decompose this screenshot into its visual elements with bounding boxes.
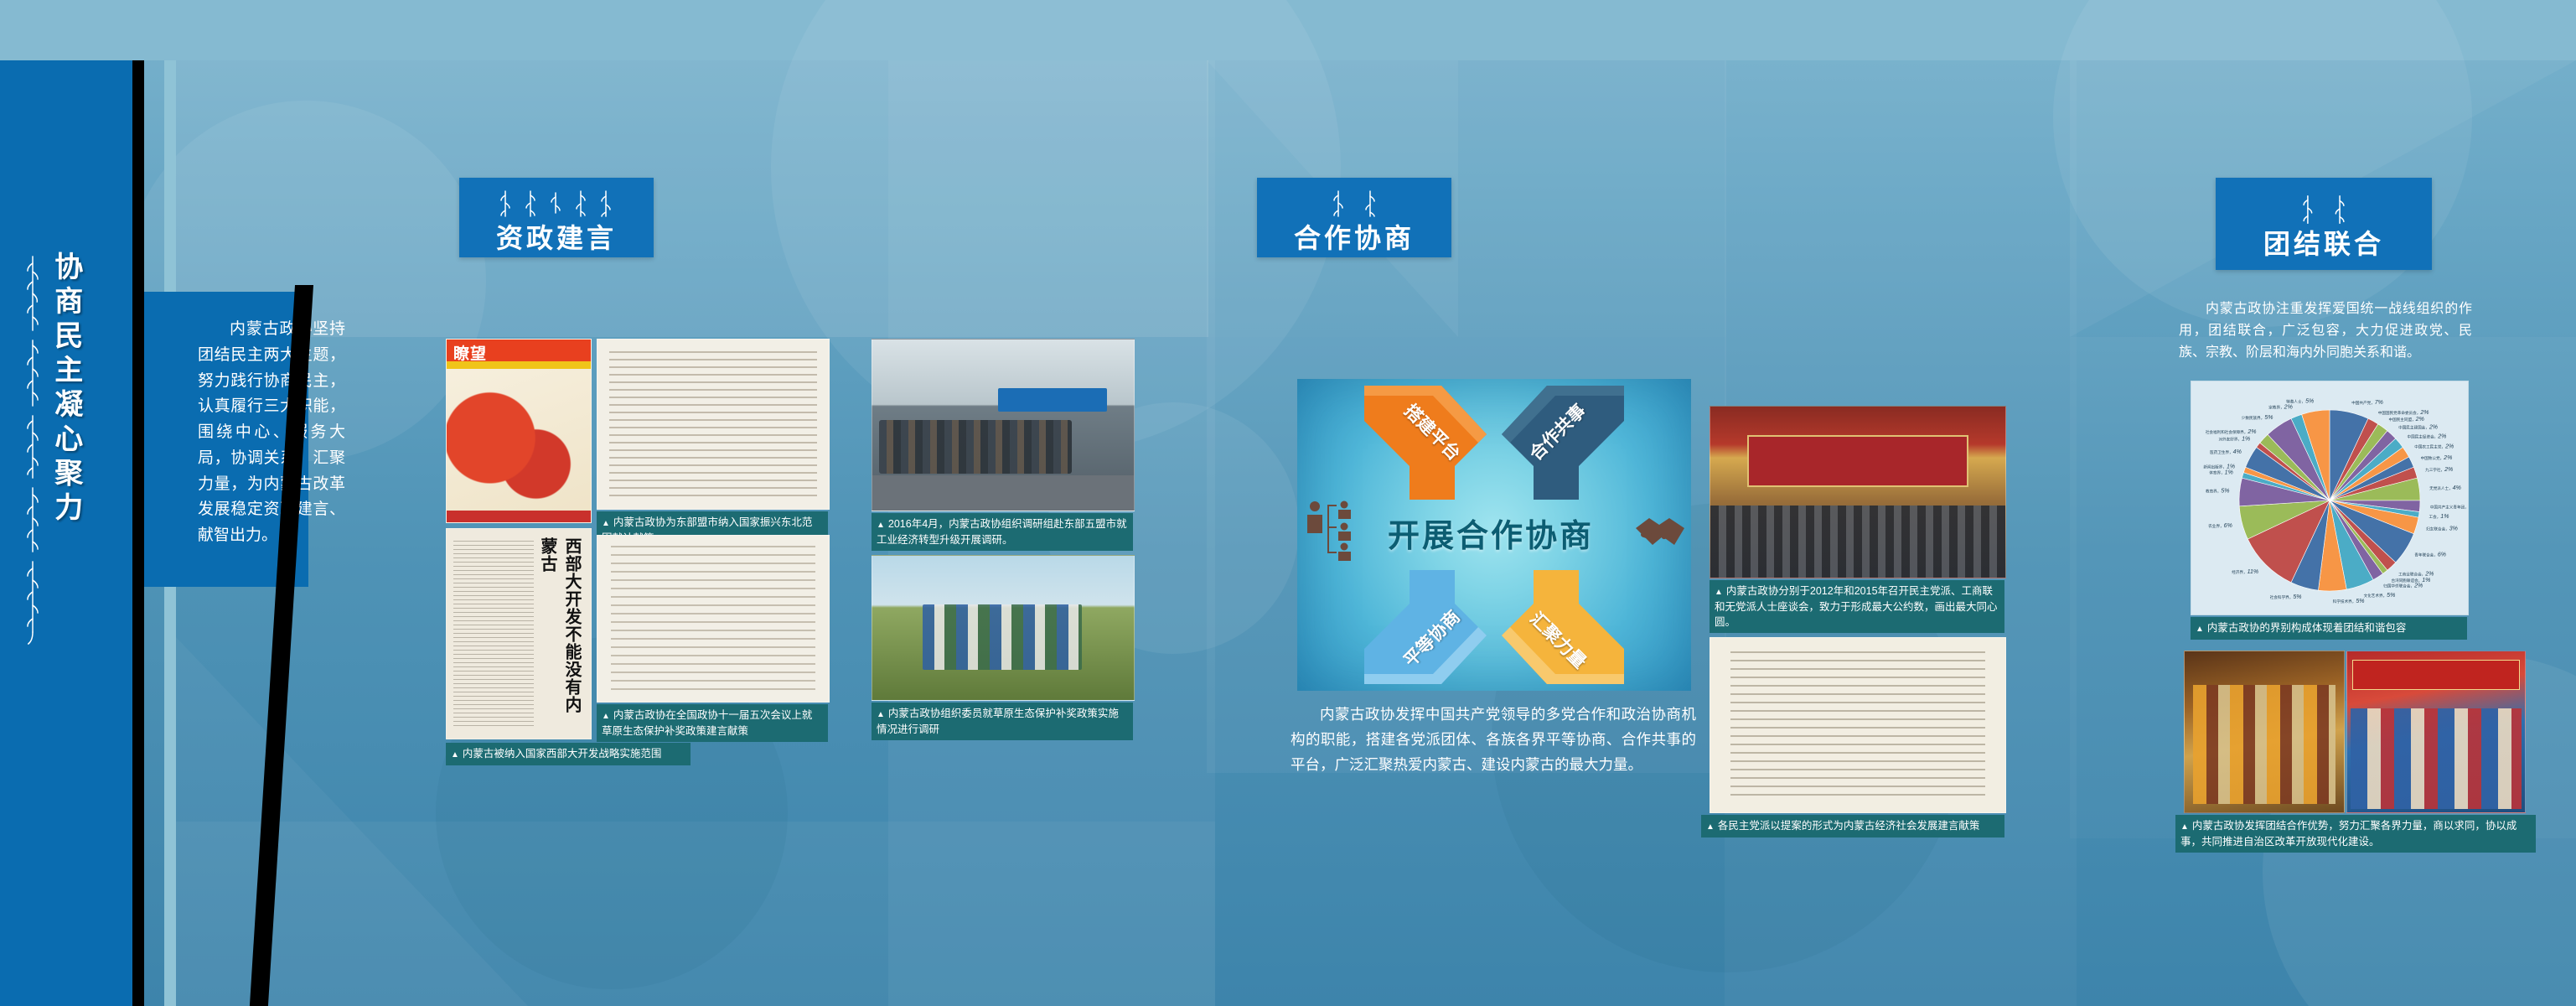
caption-text: 内蒙古被纳入国家西部大开发战略实施范围: [463, 748, 662, 760]
pie-slice-label: 文化艺术界，5%: [2364, 593, 2396, 599]
intro-text: 内蒙古政协坚持团结民主两大主题，努力践行协商民主，认真履行三大职能，围绕中心、服…: [198, 317, 345, 549]
photo-magazine-cover: 瞭望: [446, 339, 592, 523]
section-title-hezuo: 合作协商: [1294, 224, 1415, 253]
document-scan-lines-1: [609, 351, 817, 497]
religious-figures: [2193, 685, 2335, 804]
section-header-tuanjie: 团结联合: [2216, 178, 2432, 270]
section-mongolian-zizheng: [494, 182, 619, 222]
caption-zizheng-1: ▲内蒙古被纳入国家西部大开发战略实施范围: [446, 743, 691, 765]
section-header-hezuo: 合作协商: [1257, 178, 1451, 257]
pie-slice-label: 中国共产党，7%: [2351, 400, 2383, 406]
pie-slice-label: 九三学社，2%: [2425, 467, 2453, 473]
pie-slice-label: 工商业联合会，2%: [2398, 572, 2434, 578]
grassland-people: [923, 604, 1082, 670]
pie-slice-label: 归国华侨联合会，2%: [2383, 583, 2423, 589]
photo-document-1: [597, 339, 830, 510]
caption-marker-icon: ▲: [602, 519, 610, 528]
pie-slice-label: 中国农工民主党，2%: [2414, 444, 2454, 450]
caption-zizheng-4: ▲2016年4月，内蒙古政协组织调研组赴东部五盟市就工业经济转型升级开展调研。: [872, 513, 1133, 551]
photo-newspaper: 西部大开发不能没有内蒙古: [446, 528, 592, 739]
document-scan-lines-2: [611, 546, 815, 692]
proposal-scan-lines: [1730, 651, 1985, 799]
pie-slice-label: 医药卫生界，4%: [2210, 449, 2242, 455]
photo-document-2: [597, 535, 830, 703]
caption-marker-icon: ▲: [877, 710, 885, 719]
caption-marker-icon: ▲: [602, 712, 610, 721]
pie-slice-label: 农业界，6%: [2208, 523, 2232, 529]
pie-slice-label: 新闻出版界，1%: [2203, 464, 2235, 469]
delegate-banner: [2352, 660, 2520, 690]
poster-title: 协商民主凝心聚力: [50, 251, 80, 526]
section-title-tuanjie: 团结联合: [2263, 230, 2384, 259]
section-header-zizheng: 资政建言: [459, 178, 654, 257]
caption-text: 2016年4月，内蒙古政协组织调研组赴东部五盟市就工业经济转型升级开展调研。: [877, 518, 1127, 546]
pie-slice-label: 中国国民党革命委员会，2%: [2378, 410, 2429, 416]
caption-marker-icon: ▲: [877, 521, 885, 530]
photo-meeting-hall: [1710, 406, 2006, 578]
caption-hezuo-1: ▲内蒙古政协分别于2012年和2015年召开民主党派、工商联和无党派人士座谈会，…: [1710, 580, 2004, 633]
caption-text: 内蒙古政协分别于2012年和2015年召开民主党派、工商联和无党派人士座谈会，致…: [1715, 585, 1998, 628]
newspaper-title: 西部大开发不能没有内蒙古: [535, 537, 584, 722]
delegate-figures: [2351, 708, 2522, 809]
org-chart-icon: [1304, 496, 1356, 563]
caption-tuanjie-2: ▲内蒙古政协发挥团结合作优势，努力汇聚各界力量，商以求同，协以成事，共同推进自治…: [2175, 815, 2536, 853]
chart-pie-constituency: 中国共产党，7%中国国民党革命委员会，2%中国民主同盟，2%中国民主建国会，2%…: [2191, 381, 2469, 615]
pie-slice-label: 工会，1%: [2429, 514, 2449, 520]
exhibition-floor: [872, 475, 1134, 511]
photo-ethnic-delegates: [2346, 651, 2526, 813]
masthead-mongolian-script: [22, 253, 44, 647]
magazine-cover-art: [447, 369, 591, 522]
magazine-title: 瞭望: [453, 341, 487, 364]
caption-marker-icon: ▲: [1706, 822, 1715, 832]
pie-slice-label: 少数民族界，5%: [2242, 415, 2273, 421]
paragraph-hezuo: 内蒙古政协发挥中国共产党领导的多党合作和政治协商机构的职能，搭建各党派团体、各族…: [1291, 703, 1696, 777]
photo-religious-leaders: [2184, 651, 2345, 813]
pie-slice-label: 台湾同胞联谊会，1%: [2392, 578, 2431, 583]
pie-chart-svg: 中国共产党，7%中国国民党革命委员会，2%中国民主同盟，2%中国民主建国会，2%…: [2191, 381, 2468, 614]
pie-slice-label: 中国民主促进会，2%: [2408, 434, 2447, 440]
pie-slice-label: 中国共产主义青年团，2%: [2430, 505, 2468, 511]
diagram-cooperation: 搭建平台 合作共事 平等协商 汇聚力量 开展合作协商: [1297, 379, 1691, 691]
photo-grassland-survey: [872, 555, 1135, 701]
caption-text: 内蒙古政协在全国政协十一届五次会议上就草原生态保护补奖政策建言献策: [602, 709, 812, 737]
masthead-black-rule: [132, 60, 144, 1006]
caption-zizheng-5: ▲内蒙古政协组织委员就草原生态保护补奖政策实施情况进行调研: [872, 703, 1133, 740]
pie-slice-label: 中国民主建国会，2%: [2398, 425, 2438, 431]
caption-text: 内蒙古政协组织委员就草原生态保护补奖政策实施情况进行调研: [877, 708, 1119, 735]
exhibition-banner: [998, 388, 1107, 412]
caption-tuanjie-1: ▲内蒙古政协的界别构成体现着团结和谐包容: [2191, 617, 2467, 640]
caption-zizheng-3: ▲内蒙古政协在全国政协十一届五次会议上就草原生态保护补奖政策建言献策: [597, 704, 828, 742]
exhibition-crowd: [879, 420, 1072, 474]
poster-canvas: 协商民主凝心聚力 内蒙古政协坚持团结民主两大主题，努力践行协商民主，认真履行三大…: [0, 0, 2576, 1006]
photo-proposal-document: [1710, 637, 2006, 813]
pie-slice-label: 对外友好界，1%: [2218, 437, 2250, 443]
pie-slice-label: 社会福利和社会保障界，2%: [2206, 429, 2257, 435]
pie-slice-label: 教育界，5%: [2206, 489, 2230, 495]
caption-text: 内蒙古政协的界别构成体现着团结和谐包容: [2207, 622, 2407, 634]
section-mongolian-tuanjie: [2282, 188, 2366, 228]
meeting-backdrop: [1747, 435, 1968, 487]
magazine-footer-bar: [447, 511, 591, 522]
caption-marker-icon: ▲: [2180, 822, 2189, 832]
handshake-icon: [1634, 511, 1686, 553]
pie-slice-label: 科学技术界，5%: [2333, 599, 2365, 604]
paragraph-tuanjie: 内蒙古政协注重发挥爱国统一战线组织的作用，团结联合，广泛包容，大力促进政党、民族…: [2179, 298, 2472, 364]
pie-slice-label: 妇女联合会，3%: [2426, 526, 2458, 532]
pie-slice-label: 社会科学界，5%: [2270, 594, 2302, 600]
caption-text: 各民主党派以提案的形式为内蒙古经济社会发展建言献策: [1718, 820, 1980, 832]
diagram-center-title: 开展合作协商: [1388, 510, 1594, 556]
caption-text: 内蒙古政协发挥团结合作优势，努力汇聚各界力量，商以求同，协以成事，共同推进自治区…: [2180, 820, 2517, 848]
pie-slice-label: 中国致公党，2%: [2421, 455, 2453, 461]
meeting-delegates: [1710, 506, 2005, 578]
caption-hezuo-2: ▲各民主党派以提案的形式为内蒙古经济社会发展建言献策: [1701, 815, 2004, 837]
caption-marker-icon: ▲: [1715, 588, 1723, 597]
section-title-zizheng: 资政建言: [496, 224, 617, 253]
pie-slice-label: 中国民主同盟，2%: [2389, 417, 2424, 423]
newspaper-body-columns: [453, 541, 534, 729]
pie-slice-label: 青年联合会，6%: [2414, 552, 2446, 557]
pie-slice-label: 特邀人士，5%: [2286, 399, 2314, 405]
pie-slice-label: 无党派人士，4%: [2429, 485, 2461, 491]
pie-slice-label: 宗教界，2%: [2268, 404, 2293, 410]
pie-slice-label: 体育界，1%: [2209, 470, 2233, 476]
caption-marker-icon: ▲: [2196, 625, 2204, 634]
section-mongolian-hezuo: [1316, 182, 1392, 222]
pie-slice-label: 经济界，11%: [2232, 569, 2258, 575]
photo-exhibition-hall: [872, 339, 1135, 511]
caption-marker-icon: ▲: [451, 750, 459, 760]
magazine-band-1: [447, 361, 591, 369]
